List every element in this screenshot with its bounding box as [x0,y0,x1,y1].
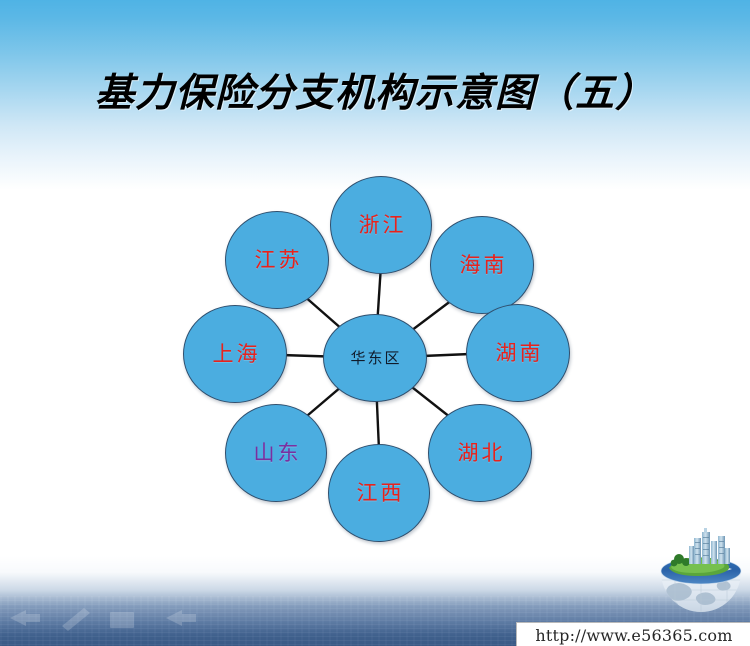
faint-watermark-marks [6,604,246,638]
diagram-node-huadong-hub[interactable]: 华东区 [323,314,427,402]
diagram-node-label: 海南 [457,255,508,276]
diagram-node-hainan[interactable]: 海南 [430,216,534,314]
diagram-node-label: 上海 [210,344,261,365]
diagram-hub-label: 华东区 [348,351,401,366]
source-watermark: http://www.e56365.com [516,622,750,646]
diagram-node-zhejiang[interactable]: 浙江 [330,176,432,274]
watermark-url: http://www.e56365.com [535,626,732,645]
diagram-node-label: 浙江 [356,215,407,236]
diagram-node-shanghai[interactable]: 上海 [183,305,287,403]
diagram-node-shandong[interactable]: 山东 [225,404,327,502]
diagram-node-hubei[interactable]: 湖北 [428,404,532,502]
diagram-node-jiangxi[interactable]: 江西 [328,444,430,542]
diagram-node-label: 山东 [251,443,302,464]
earth-city-globe-icon [655,524,747,616]
page-title: 基力保险分支机构示意图（五） [0,62,750,118]
diagram-node-label: 湖北 [455,443,506,464]
diagram-node-label: 湖南 [493,343,544,364]
diagram-node-jiangsu[interactable]: 江苏 [225,211,329,309]
slide-canvas: 基力保险分支机构示意图（五） 浙江 海南 湖南 湖北 [0,0,750,646]
org-structure-diagram: 浙江 海南 湖南 湖北 江西 山东 上海 江苏 华东区 [175,165,575,555]
diagram-node-label: 江西 [354,483,405,504]
diagram-node-label: 江苏 [252,250,303,271]
diagram-node-hunan[interactable]: 湖南 [466,304,570,402]
